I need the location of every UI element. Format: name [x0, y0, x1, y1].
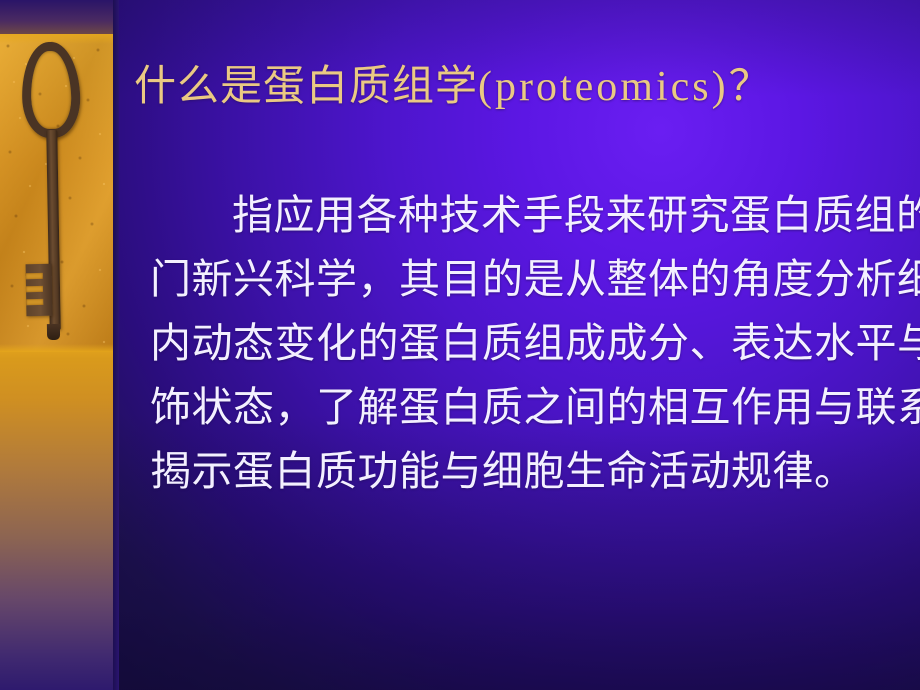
key-notch	[26, 286, 43, 292]
body-line: 饰状态，了解蛋白质之间的相互作用与联系，	[150, 375, 890, 439]
key-bit-shape	[26, 264, 53, 316]
key-bow-shape	[21, 41, 81, 138]
slide-title-chinese: 什么是蛋白质组学	[134, 64, 478, 110]
sidebar-edge-divider	[113, 0, 119, 690]
sand-texture-photo	[0, 34, 113, 352]
key-notch	[26, 273, 43, 279]
decorative-sidebar	[0, 0, 113, 690]
slide-title: 什么是蛋白质组学(proteomics)？	[134, 60, 894, 114]
slide-body-text: 指应用各种技术手段来研究蛋白质组的一 门新兴科学，其目的是从整体的角度分析细胞 …	[150, 183, 890, 503]
slide-title-latin: (proteomics)？	[478, 64, 774, 110]
presentation-slide: 什么是蛋白质组学(proteomics)？ 指应用各种技术手段来研究蛋白质组的一…	[0, 0, 920, 690]
body-line: 揭示蛋白质功能与细胞生命活动规律。	[150, 439, 890, 503]
key-tip-shape	[47, 324, 60, 340]
key-notch	[26, 299, 43, 305]
antique-key-icon	[18, 42, 94, 342]
body-line: 门新兴科学，其目的是从整体的角度分析细胞	[150, 247, 890, 311]
body-line: 指应用各种技术手段来研究蛋白质组的一	[150, 183, 890, 247]
body-line: 内动态变化的蛋白质组成成分、表达水平与修	[150, 311, 890, 375]
